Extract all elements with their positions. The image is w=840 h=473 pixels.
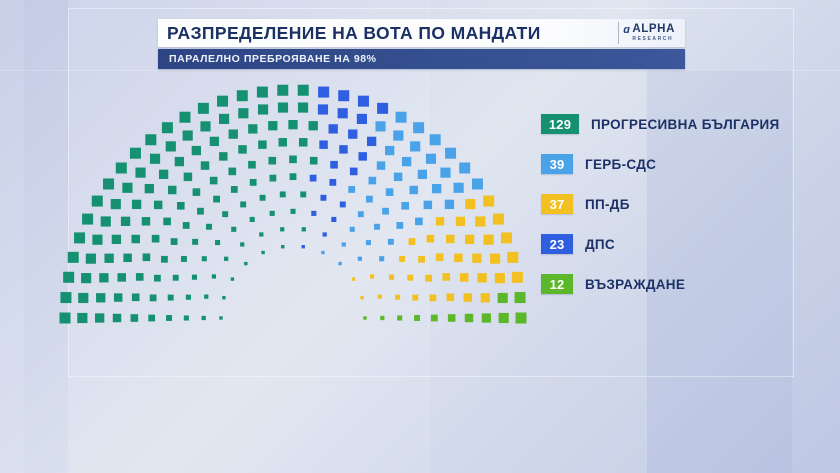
seat <box>446 235 454 243</box>
legend-seat-count-pp-db: 37 <box>541 194 573 214</box>
seat <box>68 252 79 263</box>
seat <box>426 154 436 164</box>
legend-seat-count-gerb-sds: 39 <box>541 154 573 174</box>
seat <box>348 129 357 138</box>
seat <box>501 232 512 243</box>
seat <box>464 293 472 301</box>
seat <box>432 184 441 193</box>
seat <box>268 157 276 165</box>
seat <box>436 253 444 261</box>
seat <box>431 315 438 322</box>
seat <box>99 273 108 282</box>
seat <box>228 168 236 176</box>
seat <box>258 140 266 148</box>
seat <box>279 138 287 146</box>
seat <box>440 168 450 178</box>
seat <box>186 295 191 300</box>
seat <box>101 216 111 226</box>
seat <box>386 188 394 196</box>
seat <box>338 90 349 101</box>
seat <box>171 238 178 245</box>
seat <box>92 196 103 207</box>
seat <box>181 256 187 262</box>
seat <box>261 251 264 254</box>
seat <box>300 191 306 197</box>
logo-alpha-text: ALPHA <box>632 24 675 36</box>
seat <box>150 154 160 164</box>
seat <box>309 121 318 130</box>
seat <box>350 168 358 176</box>
seat <box>130 148 141 159</box>
seat <box>302 227 306 231</box>
seat <box>184 173 192 181</box>
seat <box>445 200 454 209</box>
seat <box>358 211 364 217</box>
seat <box>363 316 366 319</box>
seat <box>430 134 441 145</box>
legend-label-dps: ДПС <box>585 237 615 252</box>
seat <box>342 242 346 246</box>
seat <box>430 295 437 302</box>
seat <box>318 104 328 114</box>
seat <box>385 146 394 155</box>
seat <box>493 214 504 225</box>
seat <box>78 293 88 303</box>
seat <box>399 256 405 262</box>
seat <box>198 103 209 114</box>
seat <box>289 156 297 164</box>
seat <box>132 293 140 301</box>
seat <box>104 254 113 263</box>
seat <box>161 256 168 263</box>
bg-panel-4 <box>0 0 24 473</box>
seat <box>103 178 114 189</box>
subtitle-bar: ПАРАЛЕЛНО ПРЕБРОЯВАНЕ НА 98% <box>158 49 685 69</box>
seat <box>184 315 189 320</box>
seat <box>311 211 316 216</box>
seat <box>495 273 505 283</box>
seat <box>240 201 246 207</box>
legend-label-vazrazhdane: ВЪЗРАЖДАНЕ <box>585 277 685 292</box>
seat <box>350 227 355 232</box>
seat <box>454 183 464 193</box>
seat <box>142 217 150 225</box>
seat <box>250 179 257 186</box>
seat <box>238 145 246 153</box>
seat <box>248 124 257 133</box>
seat <box>465 235 474 244</box>
bg-panel-1 <box>68 0 428 473</box>
seat <box>298 85 309 96</box>
seat <box>370 274 374 278</box>
seat <box>498 293 508 303</box>
seat <box>382 208 389 215</box>
seat <box>418 256 425 263</box>
seat <box>192 239 198 245</box>
alpha-research-logo: ᵅ ALPHA RESEARCH <box>618 22 679 44</box>
seat <box>86 254 96 264</box>
seat <box>202 316 206 320</box>
legend: 129ПРОГРЕСИВНА БЪЛГАРИЯ39ГЕРБ-СДС37ПП-ДБ… <box>541 104 803 304</box>
seat <box>367 137 376 146</box>
seat <box>396 112 407 123</box>
seat <box>244 262 247 265</box>
seat <box>331 217 336 222</box>
seat <box>60 292 71 303</box>
seat <box>321 251 324 254</box>
logo-wordmark: ALPHA RESEARCH <box>632 24 675 42</box>
seat <box>299 138 307 146</box>
seat <box>95 313 104 322</box>
seat <box>396 222 403 229</box>
seat <box>231 186 238 193</box>
seat <box>131 235 139 243</box>
seat <box>512 272 523 283</box>
seat <box>465 199 475 209</box>
seat <box>258 104 268 114</box>
seat <box>412 295 418 301</box>
seat <box>248 161 256 169</box>
seat <box>219 114 229 124</box>
seat <box>154 201 162 209</box>
seat <box>319 140 327 148</box>
seat <box>166 141 176 151</box>
seat <box>377 103 388 114</box>
seat <box>213 196 220 203</box>
seat <box>377 161 385 169</box>
seat <box>369 177 377 185</box>
alpha-symbol-icon: ᵅ <box>623 25 629 41</box>
seat <box>200 121 210 131</box>
seat <box>477 273 486 282</box>
seat <box>484 235 494 245</box>
seat <box>92 235 102 245</box>
legend-row-pp-db[interactable]: 37ПП-ДБ <box>541 184 803 224</box>
seat <box>507 252 518 263</box>
seat <box>260 195 266 201</box>
seat <box>472 254 481 263</box>
seat <box>96 293 105 302</box>
seat <box>447 293 455 301</box>
seat <box>472 178 483 189</box>
seat <box>212 274 216 278</box>
seat <box>394 173 402 181</box>
seat <box>499 313 509 323</box>
seat <box>122 183 132 193</box>
seat <box>81 273 91 283</box>
seat <box>145 134 156 145</box>
seat <box>159 170 168 179</box>
seat <box>229 129 238 138</box>
seat <box>118 273 126 281</box>
seat <box>237 90 248 101</box>
seat <box>374 224 380 230</box>
seat <box>427 235 435 243</box>
seat <box>436 217 444 225</box>
seat <box>202 256 207 261</box>
seat <box>448 314 456 322</box>
legend-label-gerb-sds: ГЕРБ-СДС <box>585 157 656 172</box>
seat <box>163 218 171 226</box>
seat <box>320 195 326 201</box>
seat <box>357 114 367 124</box>
seat <box>114 293 122 301</box>
seat <box>215 240 220 245</box>
seat <box>329 179 336 186</box>
seat <box>113 314 121 322</box>
page-title: РАЗПРЕДЕЛЕНИЕ НА ВОТА ПО МАНДАТИ <box>167 23 541 44</box>
seat <box>201 161 209 169</box>
seat <box>358 152 366 160</box>
seat <box>407 275 413 281</box>
seat <box>401 202 409 210</box>
seat <box>145 184 154 193</box>
bg-line-1 <box>428 0 429 473</box>
legend-row-progresivna-bulgaria[interactable]: 129ПРОГРЕСИВНА БЪЛГАРИЯ <box>541 104 803 144</box>
legend-seat-count-dps: 23 <box>541 234 573 254</box>
legend-label-progresivna-bulgaria: ПРОГРЕСИВНА БЪЛГАРИЯ <box>591 117 780 132</box>
seat <box>231 227 236 232</box>
seat <box>329 124 338 133</box>
seat <box>460 273 468 281</box>
seat <box>358 257 362 261</box>
seat <box>340 201 346 207</box>
seat <box>338 108 348 118</box>
broadcast-graphic: РАЗПРЕДЕЛЕНИЕ НА ВОТА ПО МАНДАТИ ᵅ ALPHA… <box>0 0 840 473</box>
seat <box>302 245 305 248</box>
seat <box>175 157 184 166</box>
seat <box>415 218 423 226</box>
seat <box>268 121 277 130</box>
legend-row-vazrazhdane[interactable]: 12ВЪЗРАЖДАНЕ <box>541 264 803 304</box>
seat <box>490 254 500 264</box>
seat-group <box>60 85 527 324</box>
seat <box>136 273 144 281</box>
seat <box>238 108 248 118</box>
seat <box>281 245 284 248</box>
seat <box>288 120 297 129</box>
seat <box>77 313 87 323</box>
seat <box>60 313 71 324</box>
title-bar: РАЗПРЕДЕЛЕНИЕ НА ВОТА ПО МАНДАТИ ᵅ ALPHA… <box>158 19 685 47</box>
logo-research-text: RESEARCH <box>632 37 675 42</box>
seat <box>445 148 456 159</box>
seat <box>358 96 369 107</box>
seat <box>111 199 121 209</box>
seat <box>183 222 190 229</box>
seat <box>280 227 284 231</box>
seat <box>112 235 121 244</box>
seat <box>166 315 172 321</box>
seat <box>270 175 277 182</box>
seat <box>379 256 384 261</box>
seat <box>219 316 222 319</box>
seat <box>515 292 526 303</box>
seat <box>277 85 288 96</box>
seat <box>168 186 176 194</box>
seat <box>330 161 338 169</box>
seat <box>456 217 465 226</box>
seat <box>425 275 432 282</box>
seat <box>298 102 308 112</box>
seat <box>131 314 139 322</box>
seat <box>482 313 491 322</box>
seat <box>217 96 228 107</box>
seat <box>257 87 268 98</box>
seat <box>410 186 418 194</box>
seat <box>168 295 174 301</box>
seat <box>143 253 151 261</box>
seat <box>360 296 363 299</box>
seat <box>402 157 411 166</box>
seat <box>375 121 385 131</box>
seat <box>82 214 93 225</box>
seat <box>378 295 382 299</box>
seat <box>280 191 286 197</box>
seat <box>483 196 494 207</box>
seat <box>318 87 329 98</box>
seat <box>290 173 297 180</box>
seat <box>413 122 424 133</box>
seat <box>192 275 197 280</box>
seat <box>465 314 473 322</box>
seat <box>352 277 355 280</box>
seat <box>179 112 190 123</box>
seat <box>366 240 371 245</box>
legend-seat-count-vazrazhdane: 12 <box>541 274 573 294</box>
seat <box>219 152 227 160</box>
seat <box>154 275 161 282</box>
bg-line-3 <box>0 70 840 71</box>
seat <box>132 200 141 209</box>
seat <box>152 235 160 243</box>
seat <box>481 293 490 302</box>
seat <box>210 177 218 185</box>
legend-row-dps[interactable]: 23ДПС <box>541 224 803 264</box>
seat <box>121 217 130 226</box>
seat <box>366 196 373 203</box>
seat <box>459 162 470 173</box>
seat <box>410 141 420 151</box>
seat <box>231 277 234 280</box>
seat <box>177 202 185 210</box>
seat <box>395 295 400 300</box>
seat <box>409 238 416 245</box>
seat <box>148 315 155 322</box>
seat <box>323 232 327 236</box>
subtitle-text: ПАРАЛЕЛНО ПРЕБРОЯВАНЕ НА 98% <box>169 53 377 65</box>
seat <box>310 175 317 182</box>
seat <box>310 157 318 165</box>
seat <box>442 273 450 281</box>
seat <box>388 239 394 245</box>
legend-seat-count-progresivna-bulgaria: 129 <box>541 114 579 134</box>
seat <box>63 272 74 283</box>
seat <box>424 201 432 209</box>
seat <box>222 211 228 217</box>
seat <box>389 275 394 280</box>
seat <box>224 257 228 261</box>
seat <box>259 232 263 236</box>
seat <box>516 313 527 324</box>
seat <box>339 145 347 153</box>
seat <box>222 296 225 299</box>
seat <box>192 146 201 155</box>
seat <box>74 232 85 243</box>
seat <box>150 295 157 302</box>
seat <box>270 211 275 216</box>
seat <box>162 122 173 133</box>
seat <box>193 188 201 196</box>
seat <box>116 162 127 173</box>
seat <box>183 130 193 140</box>
seat <box>240 242 244 246</box>
seat <box>380 316 384 320</box>
seat <box>348 186 355 193</box>
seat <box>210 137 219 146</box>
seat <box>278 102 288 112</box>
seat <box>204 295 208 299</box>
seat <box>393 130 403 140</box>
seat <box>397 315 402 320</box>
seat <box>250 217 255 222</box>
legend-label-pp-db: ПП-ДБ <box>585 197 630 212</box>
seat <box>418 170 427 179</box>
seat <box>173 275 179 281</box>
seat <box>414 315 420 321</box>
seat <box>135 168 145 178</box>
legend-row-gerb-sds[interactable]: 39ГЕРБ-СДС <box>541 144 803 184</box>
seat <box>206 224 212 230</box>
seat <box>290 209 295 214</box>
seat <box>197 208 204 215</box>
seat <box>338 262 341 265</box>
seat <box>123 254 131 262</box>
seat <box>475 216 485 226</box>
seat <box>454 254 462 262</box>
